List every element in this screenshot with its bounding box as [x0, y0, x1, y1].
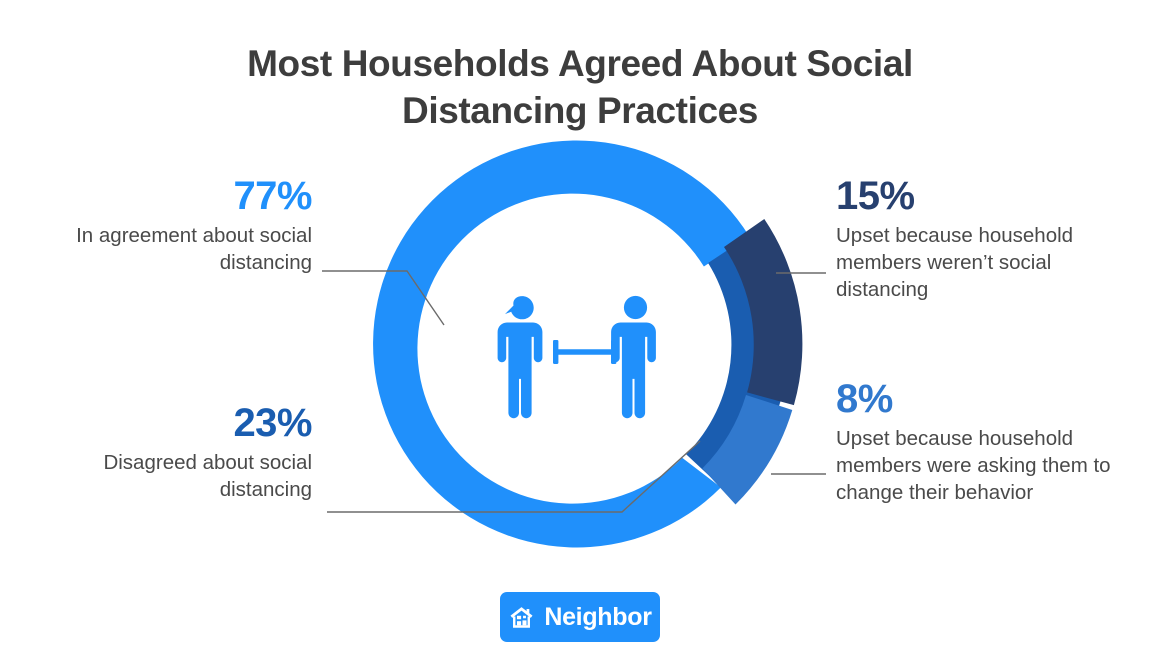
callout-agreement-description: In agreement about social distancing — [22, 222, 312, 276]
callout-upset-not-distancing: 15% Upset because household members were… — [836, 175, 1126, 303]
infographic-root: Most Households Agreed About Social Dist… — [0, 0, 1160, 664]
donut-segment-agreement[interactable] — [373, 140, 749, 547]
callout-agreement-percent: 77% — [22, 175, 312, 217]
callout-upset-behavior-percent: 8% — [836, 378, 1126, 420]
callout-disagreed-description: Disagreed about social distancing — [22, 449, 312, 503]
callout-agreement: 77% In agreement about social distancing — [22, 175, 312, 276]
callout-upset-not-distancing-percent: 15% — [836, 175, 1126, 217]
neighbor-logo-text: Neighbor — [544, 605, 651, 630]
two-people-social-distancing-icon — [498, 296, 656, 418]
house-icon — [508, 604, 535, 631]
callout-upset-behavior-description: Upset because household members were ask… — [836, 425, 1126, 506]
callout-disagreed: 23% Disagreed about social distancing — [22, 402, 312, 503]
neighbor-logo-button[interactable]: Neighbor — [500, 592, 660, 642]
callout-upset-not-distancing-description: Upset because household members weren’t … — [836, 222, 1126, 303]
callout-disagreed-percent: 23% — [22, 402, 312, 444]
callout-upset-behavior: 8% Upset because household members were … — [836, 378, 1126, 506]
donut-chart — [0, 0, 1160, 664]
